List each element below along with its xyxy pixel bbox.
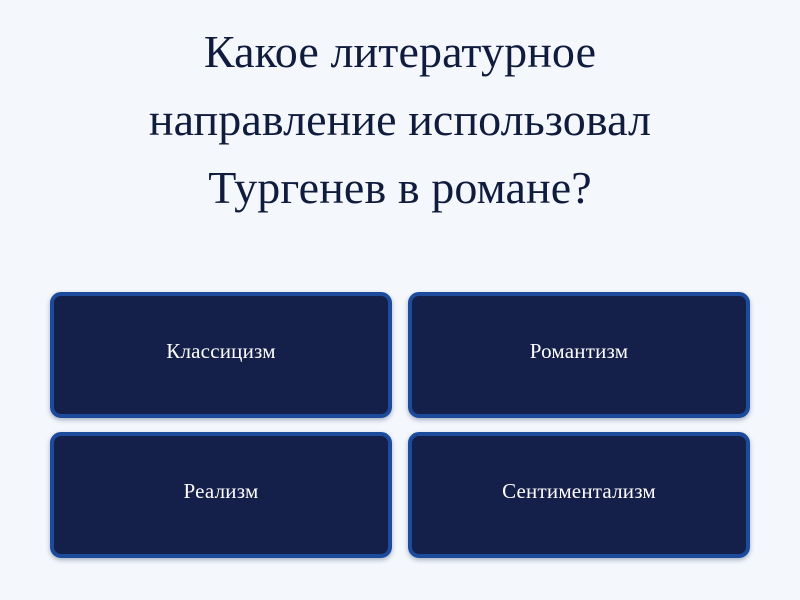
quiz-slide: Какое литературное направление использов…	[0, 0, 800, 600]
answer-button-klassitsizm[interactable]: Классицизм	[50, 292, 392, 418]
answer-label-klassitsizm: Классицизм	[166, 340, 275, 363]
answer-button-romantizm[interactable]: Романтизм	[408, 292, 750, 418]
question-line-1: Какое литературное	[0, 18, 800, 86]
answer-button-sentimentalizm[interactable]: Сентиментализм	[408, 432, 750, 558]
answer-label-realizm: Реализм	[184, 480, 259, 503]
answer-options-grid: Классицизм Романтизм Реализм Сентиментал…	[50, 292, 750, 558]
answer-button-realizm[interactable]: Реализм	[50, 432, 392, 558]
answer-label-romantizm: Романтизм	[530, 340, 628, 363]
answer-label-sentimentalizm: Сентиментализм	[502, 480, 656, 503]
question-text: Какое литературное направление использов…	[0, 18, 800, 222]
question-line-2: направление использовал	[0, 86, 800, 154]
question-line-3: Тургенев в романе?	[0, 154, 800, 222]
